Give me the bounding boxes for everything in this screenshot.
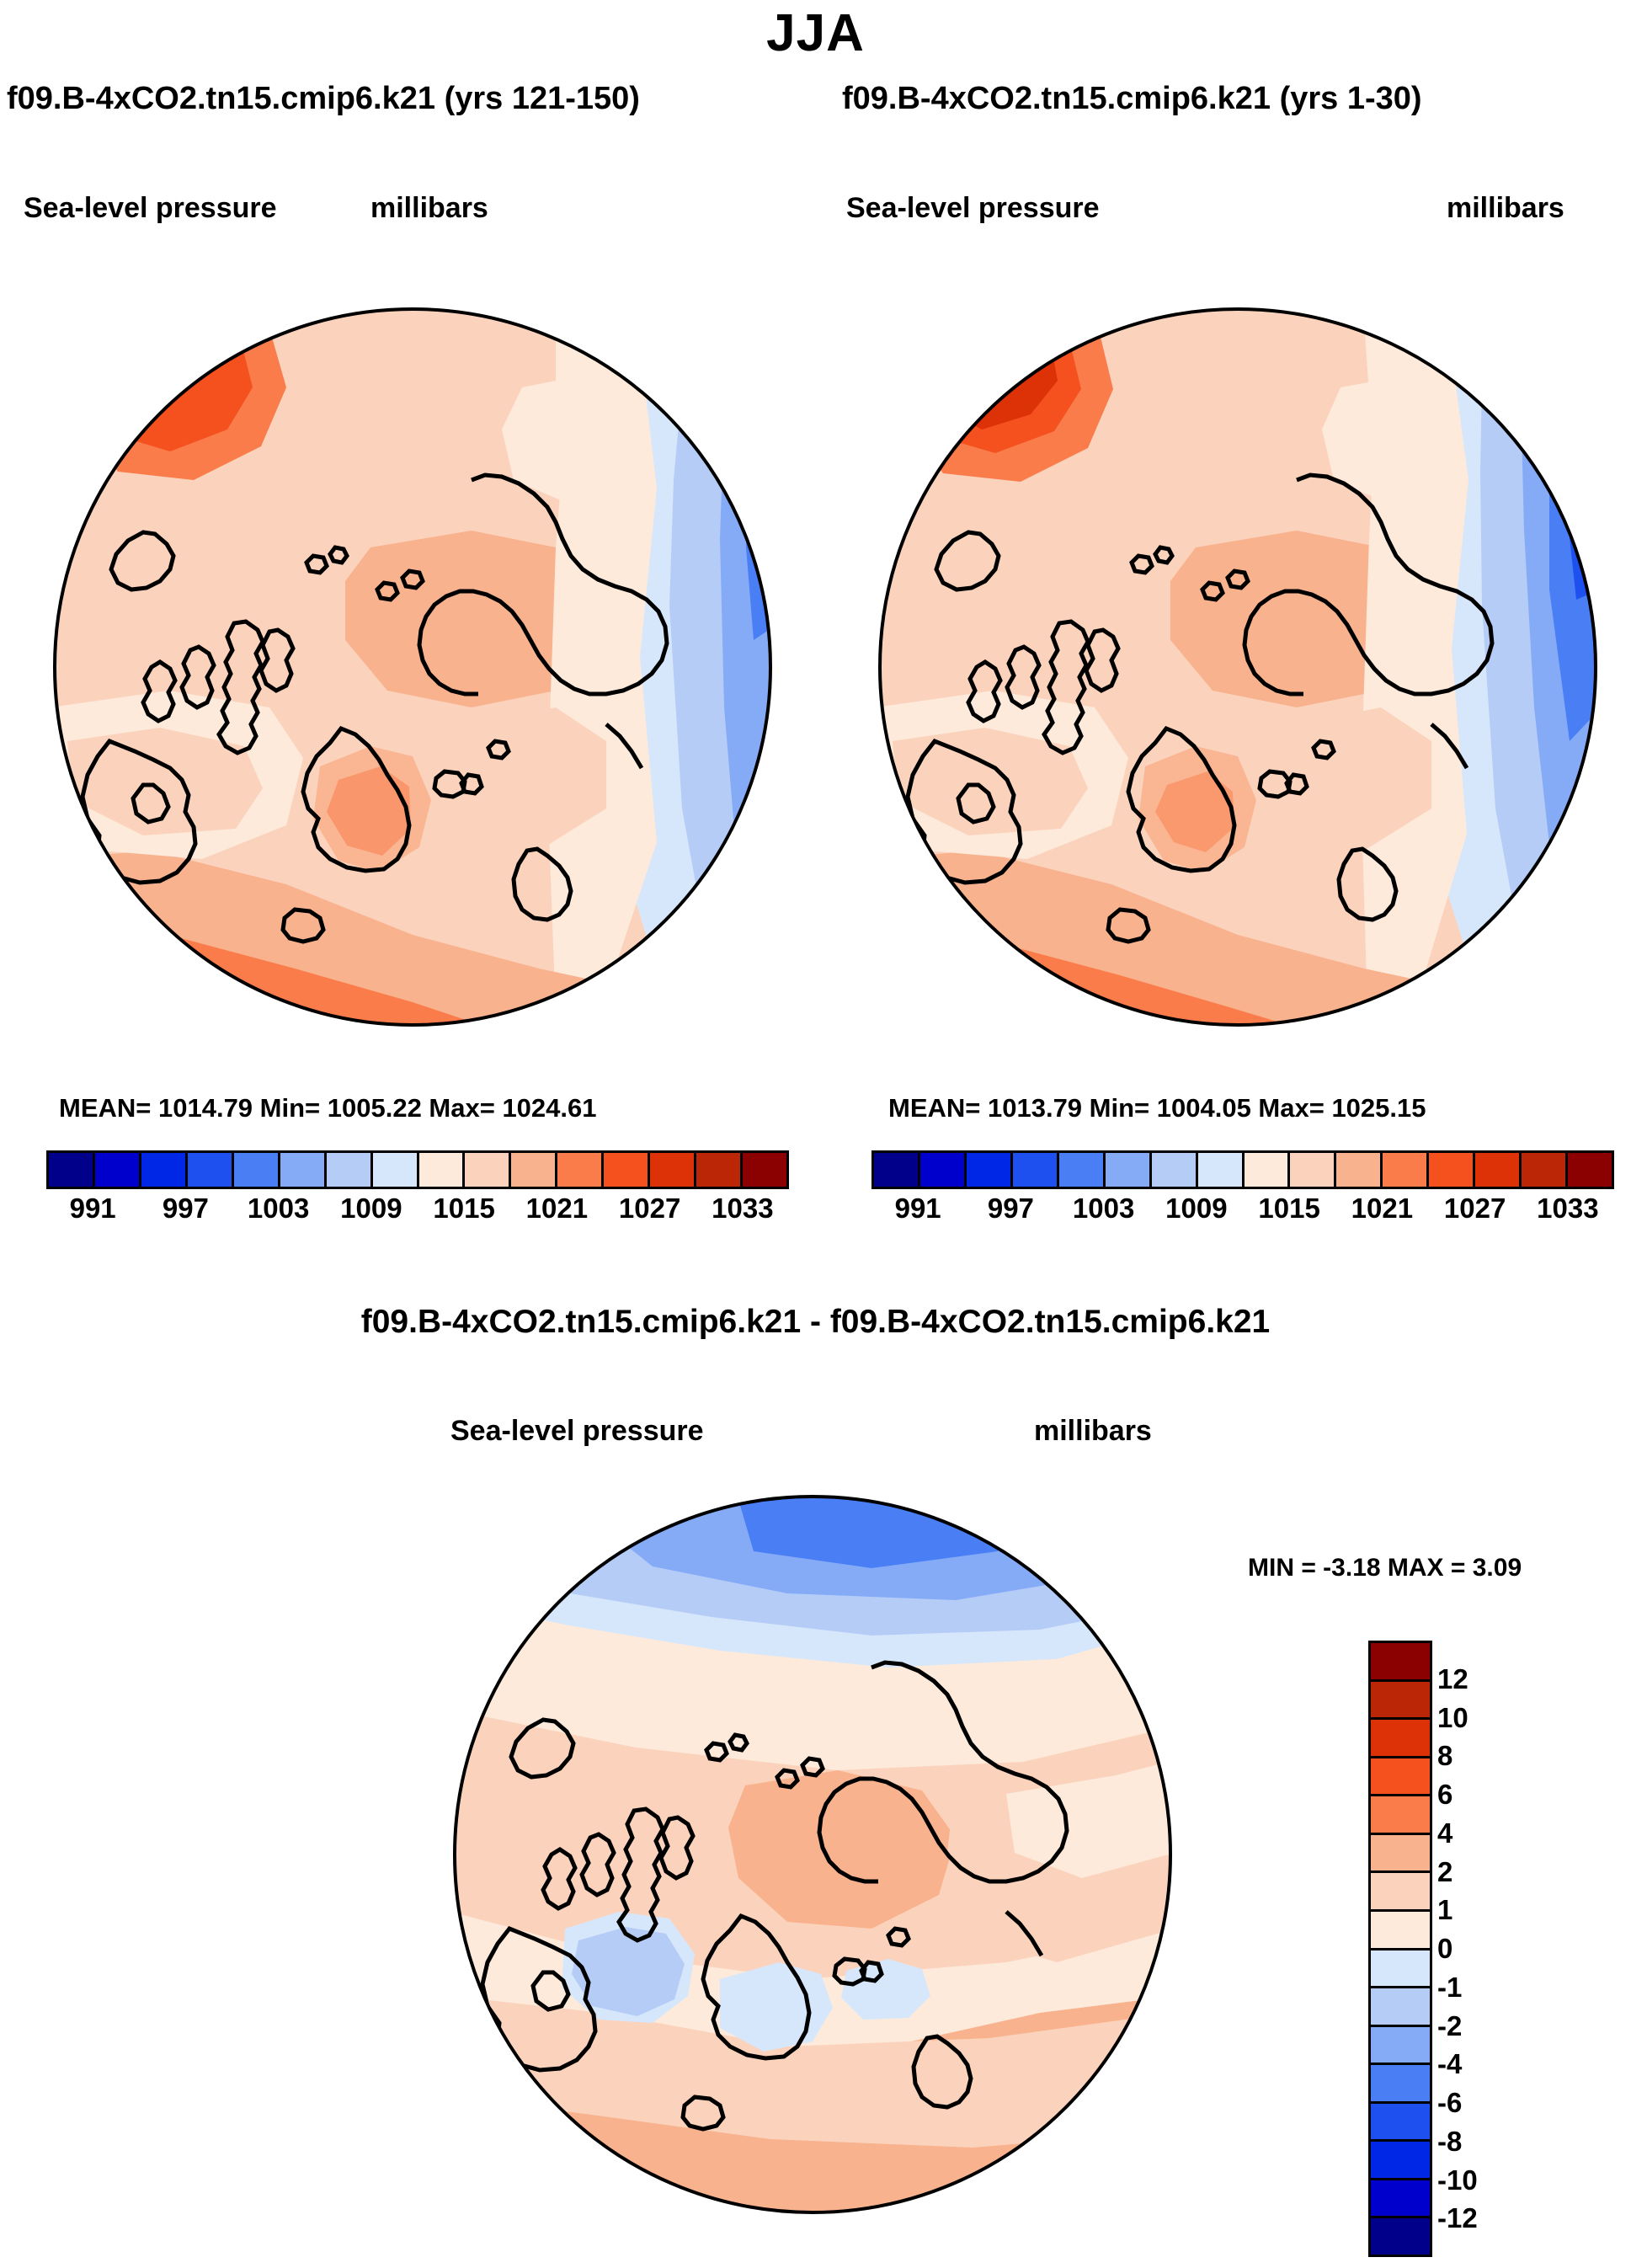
contour-fill-difference [417, 1457, 1208, 2249]
colorbar-tick: 1021 [1351, 1193, 1413, 1225]
colorbar-ticks-right: 991 997 1003 1009 1015 1021 1027 1033 [871, 1189, 1614, 1233]
colorbar-tick: -1 [1437, 1972, 1462, 2004]
contour-fill-left [17, 269, 808, 1061]
colorbar-tick: -6 [1437, 2087, 1462, 2119]
stats-left: MEAN= 1014.79 Min= 1005.22 Max= 1024.61 [59, 1093, 597, 1123]
colorbar-tick: 10 [1437, 1702, 1468, 1734]
panel-title-left: f09.B-4xCO2.tn15.cmip6.k21 (yrs 121-150) [7, 81, 640, 117]
colorbar-tick: 2 [1437, 1856, 1452, 1888]
colorbar-cells-right [871, 1150, 1614, 1189]
unit-label-left: millibars [370, 192, 488, 225]
colorbar-tick: 991 [895, 1193, 941, 1225]
colorbar-tick: 1027 [619, 1193, 680, 1225]
panel-title-right: f09.B-4xCO2.tn15.cmip6.k21 (yrs 1-30) [842, 81, 1422, 117]
colorbar-cells-difference [1368, 1641, 1432, 2257]
figure-root: JJA f09.B-4xCO2.tn15.cmip6.k21 (yrs 121-… [0, 0, 1631, 2268]
contour-fill-right [842, 269, 1631, 1061]
colorbar-left: 991 997 1003 1009 1015 1021 1027 1033 [46, 1150, 789, 1233]
colorbar-difference: 12 10 8 6 4 2 1 0 -1 -2 -4 -6 -8 -10 -12 [1368, 1641, 1554, 2257]
colorbar-tick: -2 [1437, 2010, 1462, 2042]
colorbar-tick: 997 [988, 1193, 1034, 1225]
variable-label-right: Sea-level pressure [846, 192, 1100, 225]
colorbar-tick: 1 [1437, 1894, 1452, 1926]
unit-label-difference: millibars [1034, 1415, 1152, 1448]
colorbar-tick: 4 [1437, 1817, 1452, 1849]
colorbar-tick: -12 [1437, 2202, 1478, 2234]
colorbar-tick: 997 [163, 1193, 209, 1225]
colorbar-tick: 1015 [1258, 1193, 1319, 1225]
colorbar-cells-left [46, 1150, 789, 1189]
colorbar-tick: 0 [1437, 1933, 1452, 1965]
colorbar-tick: 991 [70, 1193, 116, 1225]
colorbar-tick: 6 [1437, 1779, 1452, 1811]
colorbar-tick: 12 [1437, 1663, 1468, 1695]
colorbar-tick: 1003 [248, 1193, 309, 1225]
colorbar-tick: -4 [1437, 2048, 1462, 2080]
colorbar-right: 991 997 1003 1009 1015 1021 1027 1033 [871, 1150, 1614, 1233]
variable-label-difference: Sea-level pressure [450, 1415, 704, 1448]
colorbar-tick: -10 [1437, 2164, 1478, 2196]
colorbar-tick: 1033 [712, 1193, 773, 1225]
colorbar-tick: 1027 [1444, 1193, 1506, 1225]
colorbar-tick: 1009 [340, 1193, 402, 1225]
colorbar-tick: 8 [1437, 1740, 1452, 1772]
panel-title-difference: f09.B-4xCO2.tn15.cmip6.k21 - f09.B-4xCO2… [0, 1304, 1631, 1341]
unit-label-right: millibars [1447, 192, 1564, 225]
colorbar-ticks-left: 991 997 1003 1009 1015 1021 1027 1033 [46, 1189, 789, 1233]
minmax-difference: MIN = -3.18 MAX = 3.09 [1248, 1554, 1522, 1582]
season-title: JJA [0, 3, 1631, 63]
polar-map-difference [417, 1457, 1208, 2249]
colorbar-tick: 1003 [1073, 1193, 1134, 1225]
colorbar-tick: 1033 [1537, 1193, 1598, 1225]
colorbar-tick: 1021 [526, 1193, 588, 1225]
colorbar-tick: 1015 [433, 1193, 494, 1225]
polar-map-left [17, 269, 808, 1061]
variable-label-left: Sea-level pressure [24, 192, 277, 225]
colorbar-tick: -8 [1437, 2126, 1462, 2158]
colorbar-ticks-difference: 12 10 8 6 4 2 1 0 -1 -2 -4 -6 -8 -10 -12 [1437, 1641, 1555, 2257]
colorbar-tick: 1009 [1165, 1193, 1227, 1225]
stats-right: MEAN= 1013.79 Min= 1004.05 Max= 1025.15 [888, 1093, 1426, 1123]
polar-map-right [842, 269, 1631, 1061]
